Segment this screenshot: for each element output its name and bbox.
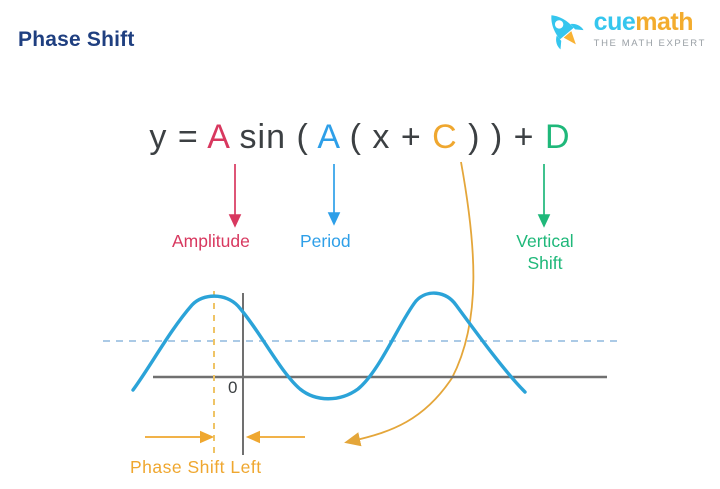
equation-token-4: ( x + <box>339 118 432 156</box>
rocket-icon <box>540 8 586 50</box>
label-period: Period <box>300 231 351 252</box>
equation-token-0: y = <box>149 118 207 156</box>
equation-token-vertical: D <box>545 118 571 156</box>
label-origin: 0 <box>228 378 237 398</box>
brand-name: cuemath <box>594 10 706 35</box>
brand-tagline: THE MATH EXPERT <box>594 39 706 49</box>
brand-wordmark: cuemath THE MATH EXPERT <box>594 10 706 49</box>
label-amplitude: Amplitude <box>172 231 250 252</box>
equation-token-period: A <box>317 118 339 156</box>
equation-token-phase: C <box>432 118 458 156</box>
brand-math-text: math <box>635 8 693 36</box>
slide-canvas: Phase Shift cuemath THE MATH EXPERT y = … <box>0 0 720 489</box>
cuemath-logo: cuemath THE MATH EXPERT <box>540 8 706 50</box>
equation-token-6: ) ) + <box>458 118 545 156</box>
label-vertical-shift-line2: Shift <box>527 253 562 273</box>
arrow-phase-shift-curved <box>352 162 473 441</box>
equation-token-2: sin ( <box>229 118 317 156</box>
label-phase-shift-left: Phase Shift Left <box>130 457 262 478</box>
page-title: Phase Shift <box>18 28 135 52</box>
equation: y = A sin ( A ( x + C ) ) + D <box>0 118 720 157</box>
sine-curve <box>133 293 525 399</box>
label-vertical-shift: VerticalShift <box>498 231 592 275</box>
equation-token-amplitude: A <box>207 118 229 156</box>
diagram-graphics <box>0 0 720 489</box>
label-vertical-shift-line1: Vertical <box>516 231 573 251</box>
brand-cue-text: cue <box>594 8 636 36</box>
